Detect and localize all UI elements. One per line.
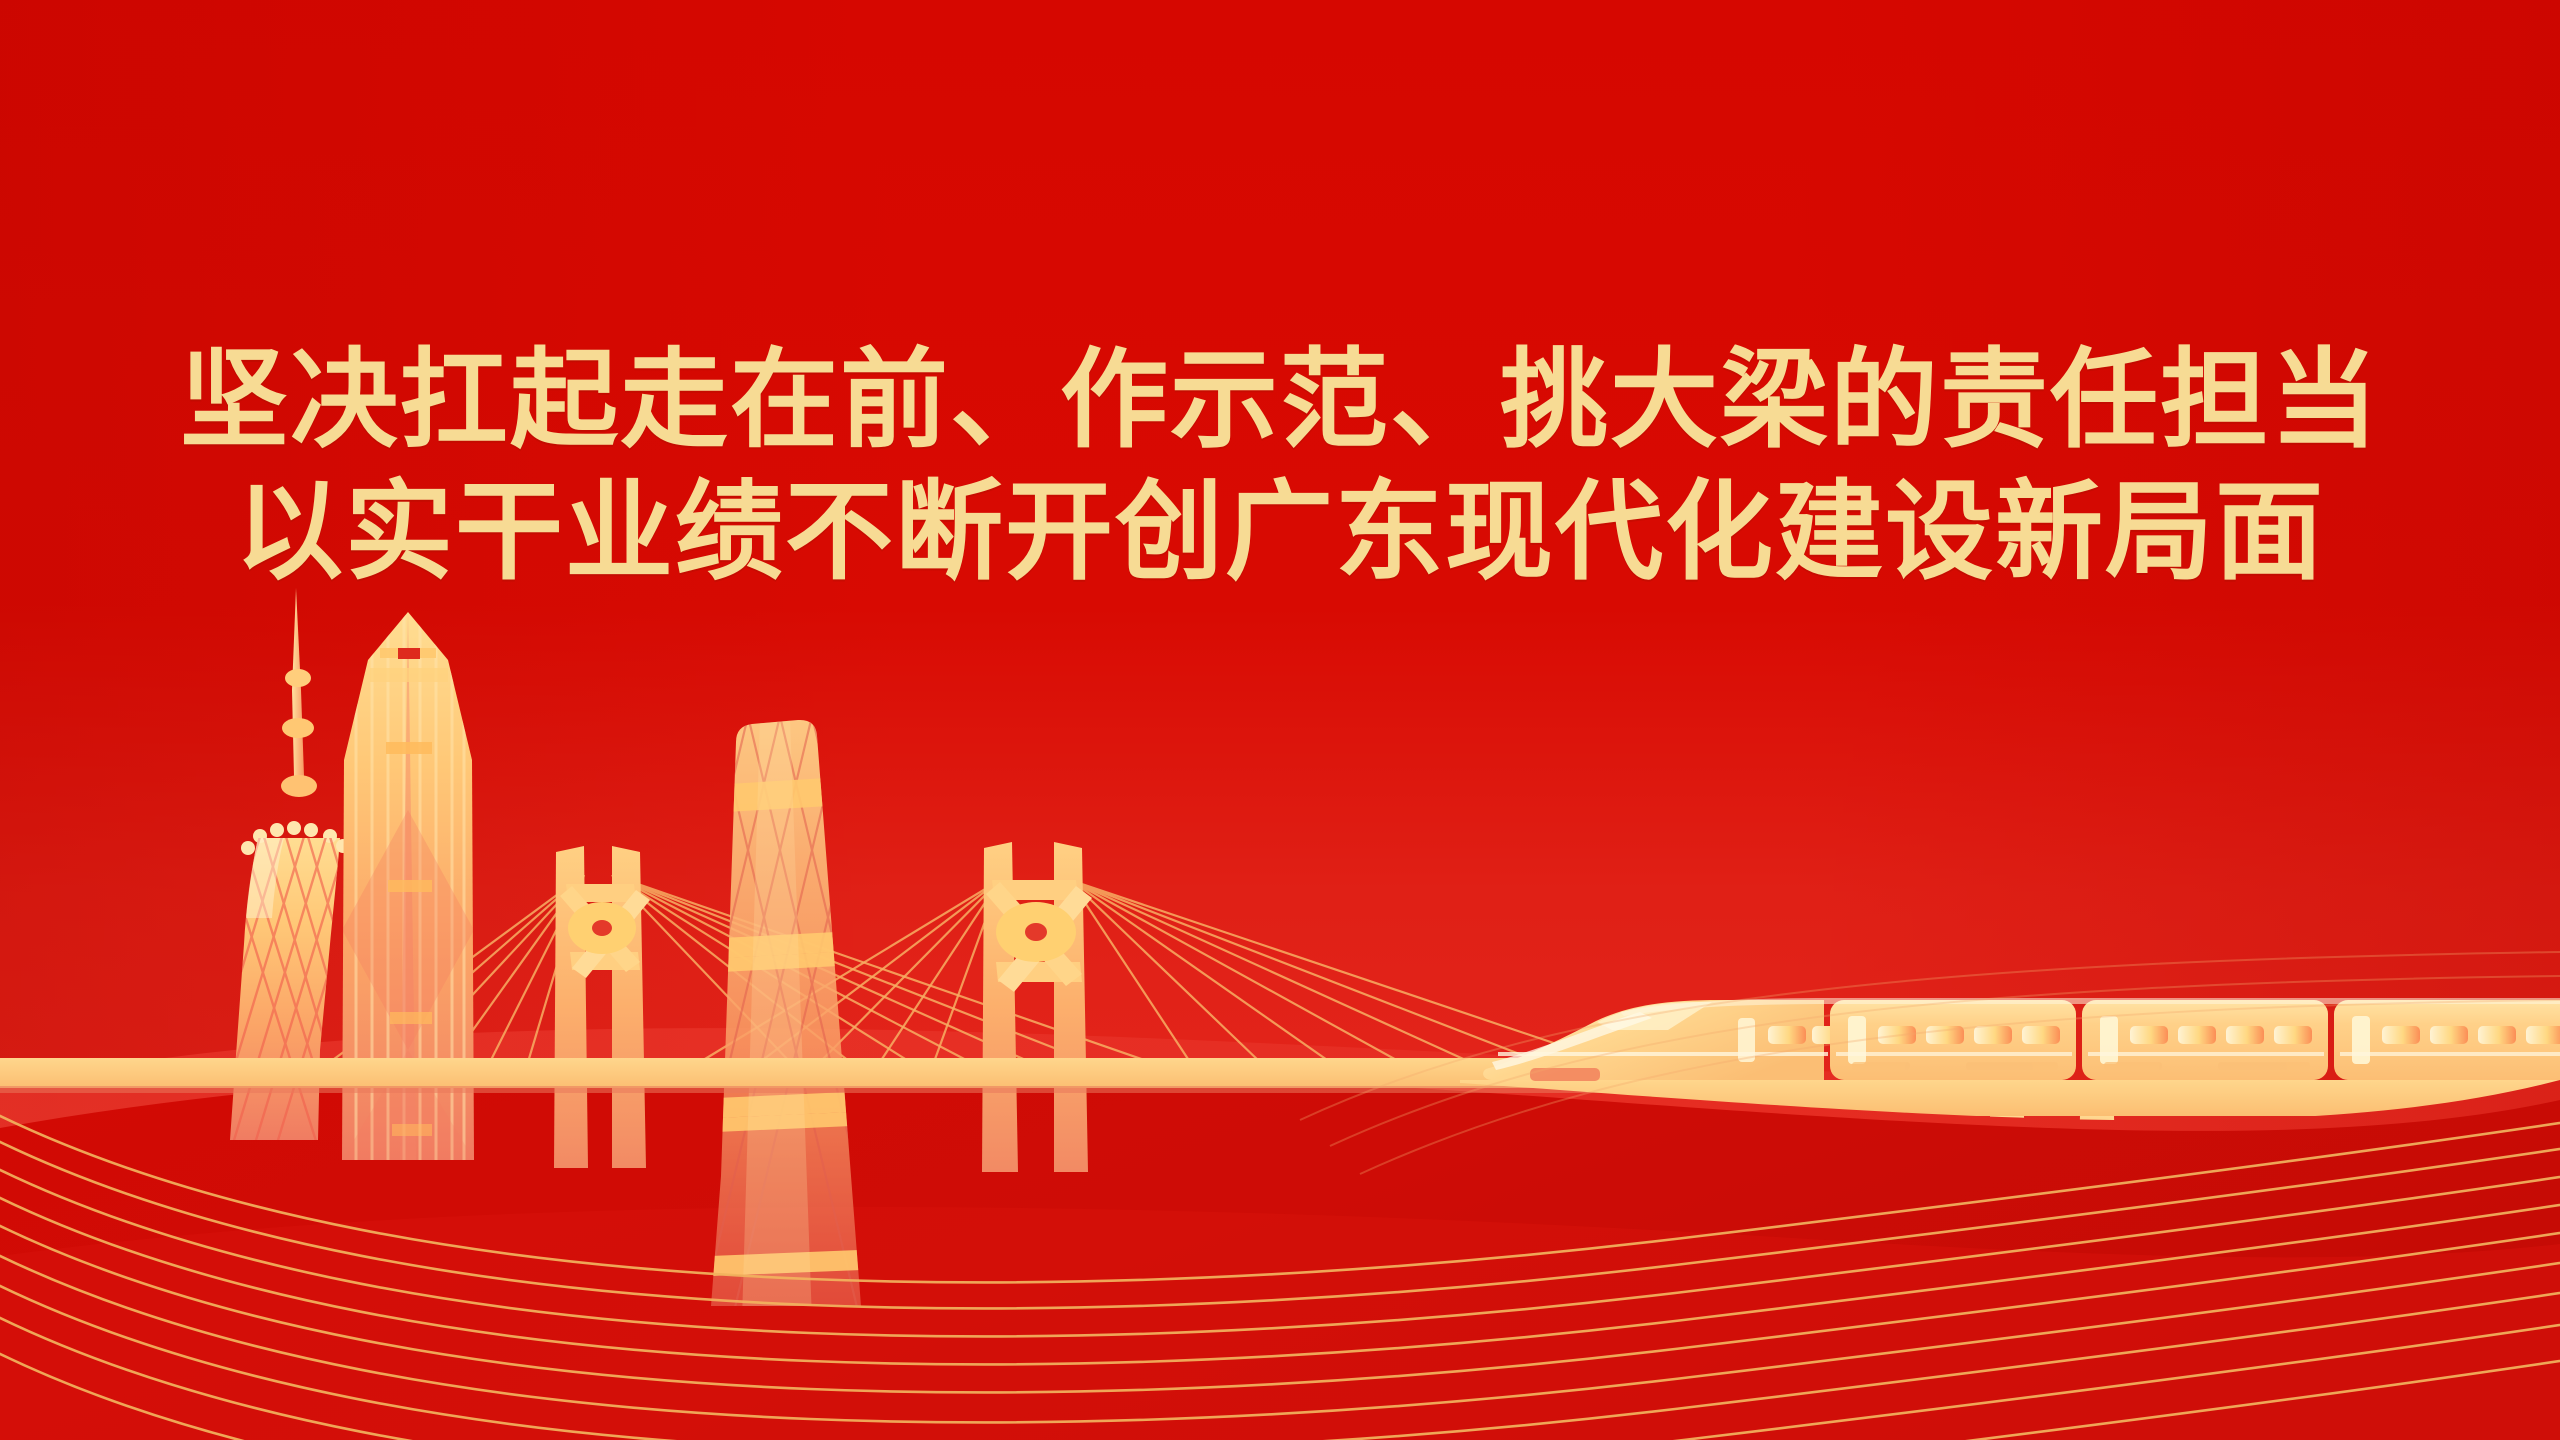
viaduct-deck xyxy=(1460,1080,2560,1116)
viaduct-piers xyxy=(1596,1116,2120,1300)
left-pylon-ring-hole xyxy=(592,920,612,936)
canton-tower-ring-top xyxy=(285,669,311,687)
illustration-layer xyxy=(0,0,2560,1440)
train-car xyxy=(2334,1000,2560,1080)
ctf-finance-centre xyxy=(604,716,956,1320)
train-car xyxy=(2082,1000,2328,1080)
poster-canvas: 坚决扛起走在前、作示范、挑大梁的责任担当 以实干业绩不断开创广东现代化建设新局面 xyxy=(0,0,2560,1440)
cable-stay-bridge-left-pylon xyxy=(554,846,650,1168)
high-speed-rail xyxy=(1460,998,2560,1300)
bridge-deck xyxy=(0,1058,1690,1088)
cable-stay-bridge-right-pylon xyxy=(982,842,1092,1172)
canton-tower-ring-mid xyxy=(282,718,314,738)
bridge-deck-shadow xyxy=(0,1086,1690,1093)
ping-an-apex-notch xyxy=(398,648,420,659)
right-pylon-ring-hole xyxy=(1025,923,1047,941)
ctf-facade xyxy=(604,716,956,1320)
canton-tower-ring-bottom xyxy=(281,775,317,797)
